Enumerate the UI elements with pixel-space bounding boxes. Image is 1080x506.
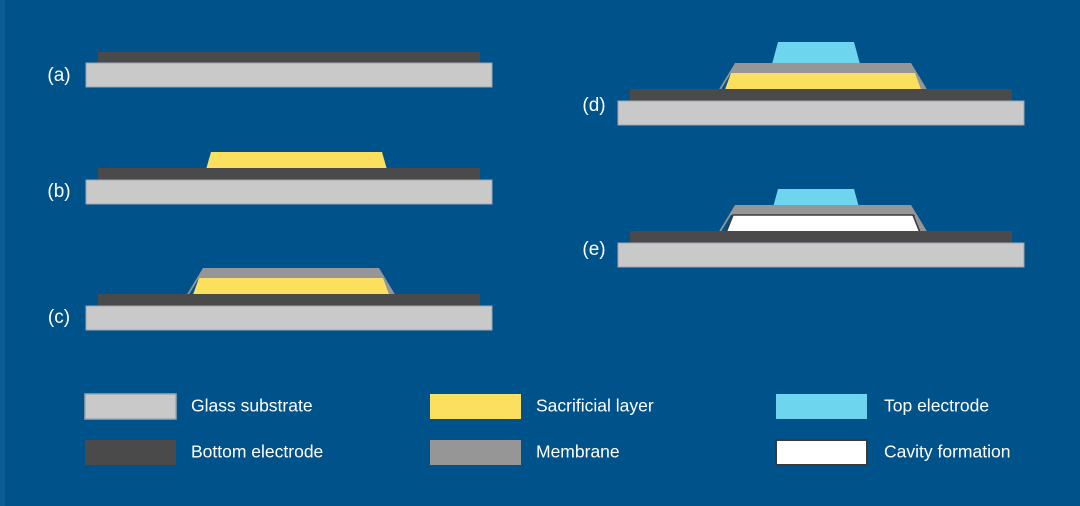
legend-item-top-electrode: Top electrode: [776, 394, 989, 419]
legend-label-top-electrode: Top electrode: [884, 396, 989, 416]
figure-canvas: (a) (b) (c) (d): [0, 0, 1080, 506]
legend-item-membrane: Membrane: [430, 440, 620, 465]
panel-a-glass-substrate: [86, 63, 492, 87]
panel-a: (a): [47, 52, 492, 87]
legend-item-bottom-electrode: Bottom electrode: [85, 440, 323, 465]
panel-b-glass-substrate: [86, 180, 492, 204]
panel-e-label: (e): [582, 239, 605, 260]
process-flow-diagram: (a) (b) (c) (d): [0, 0, 1080, 506]
panel-b: (b): [47, 152, 492, 204]
panel-a-label: (a): [47, 65, 70, 86]
legend-swatch-cavity-formation: [776, 440, 867, 465]
panel-c-label: (c): [48, 307, 70, 328]
panel-a-bottom-electrode: [98, 52, 480, 63]
legend-item-glass-substrate: Glass substrate: [85, 394, 313, 419]
legend-label-sacrificial-layer: Sacrificial layer: [536, 396, 654, 416]
panel-e: (e): [582, 189, 1024, 267]
panel-c-glass-substrate: [86, 306, 492, 330]
legend-label-cavity-formation: Cavity formation: [884, 442, 1010, 462]
panel-d-glass-substrate: [618, 101, 1024, 125]
panel-b-label: (b): [47, 181, 70, 202]
legend-label-membrane: Membrane: [536, 442, 620, 462]
legend-swatch-top-electrode: [776, 394, 867, 419]
panel-e-bottom-electrode: [630, 231, 1012, 243]
legend-swatch-glass-substrate: [85, 394, 176, 419]
panel-c: (c): [48, 268, 492, 330]
legend-label-bottom-electrode: Bottom electrode: [191, 442, 323, 462]
legend-swatch-membrane: [430, 440, 521, 465]
legend-label-glass-substrate: Glass substrate: [191, 396, 313, 416]
panel-d-bottom-electrode: [630, 89, 1012, 101]
panel-e-glass-substrate: [618, 243, 1024, 267]
legend-item-sacrificial-layer: Sacrificial layer: [430, 394, 654, 419]
legend: Glass substrate Bottom electrode Sacrifi…: [85, 394, 1010, 465]
legend-swatch-bottom-electrode: [85, 440, 176, 465]
panel-d-top-electrode: [772, 42, 860, 64]
legend-swatch-sacrificial-layer: [430, 394, 521, 419]
panel-b-bottom-electrode: [98, 168, 480, 180]
panel-c-bottom-electrode: [98, 294, 480, 306]
panel-d: (d): [582, 42, 1024, 125]
panel-d-label: (d): [582, 95, 605, 116]
legend-item-cavity-formation: Cavity formation: [776, 440, 1010, 465]
